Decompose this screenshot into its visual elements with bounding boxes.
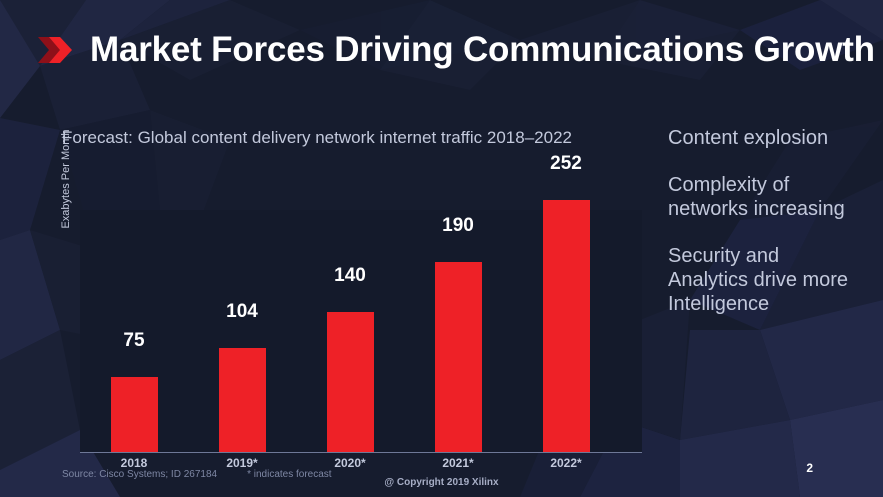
list-item: Security and Analytics drive more Intell… [668, 244, 858, 316]
table-row[interactable] [219, 348, 266, 452]
bar-value: 75 [80, 330, 188, 352]
bar-slot: 104 [188, 348, 296, 452]
slide: Market Forces Driving Communications Gro… [0, 0, 883, 497]
chart-bars: 75 104 140 190 252 [80, 182, 642, 452]
page-title: Market Forces Driving Communications Gro… [90, 30, 875, 70]
title-row: Market Forces Driving Communications Gro… [0, 22, 875, 78]
bar-value: 104 [188, 301, 296, 323]
bar-slot: 140 [296, 312, 404, 452]
page-number: 2 [806, 461, 813, 475]
bar-value: 140 [296, 265, 404, 287]
bar-value: 252 [512, 153, 620, 175]
table-row[interactable] [543, 200, 590, 452]
x-axis-line [80, 452, 642, 453]
x-tick-label: 2021* [404, 456, 512, 470]
table-row[interactable] [111, 377, 158, 452]
x-tick-label: 2022* [512, 456, 620, 470]
bar-value: 190 [404, 215, 512, 237]
x-tick-label: 2020* [296, 456, 404, 470]
table-row[interactable] [435, 262, 482, 452]
list-item: Complexity of networks increasing [668, 173, 858, 221]
chart-title: Forecast: Global content delivery networ… [62, 128, 572, 148]
copyright-notice: @ Copyright 2019 Xilinx [0, 477, 883, 488]
table-row[interactable] [327, 312, 374, 452]
bullet-list: Content explosion Complexity of networks… [668, 126, 858, 339]
xilinx-chevron-icon [38, 35, 72, 65]
bar-slot: 252 [512, 200, 620, 452]
bar-slot: 190 [404, 262, 512, 452]
list-item: Content explosion [668, 126, 858, 150]
chart-card: Forecast: Global content delivery networ… [46, 118, 642, 480]
x-tick-label: 2019* [188, 456, 296, 470]
y-axis-label: Exabytes Per Month [60, 109, 72, 249]
bar-slot: 75 [80, 377, 188, 452]
x-tick-label: 2018 [80, 456, 188, 470]
